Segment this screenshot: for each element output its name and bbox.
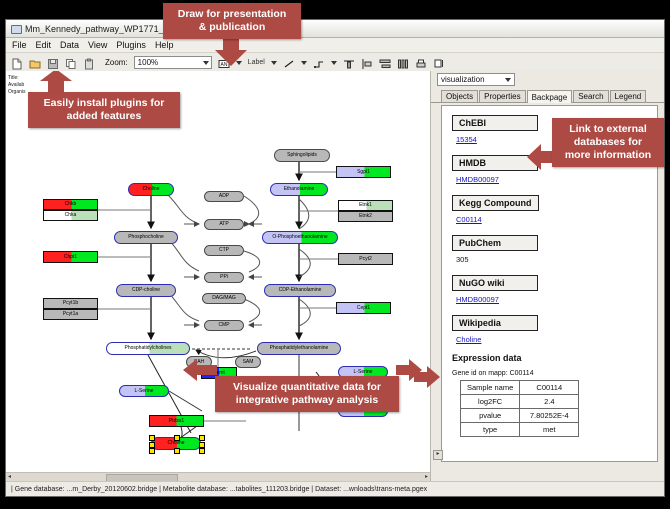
node-label: DAG/MAG (212, 296, 236, 301)
gene-node-cept1[interactable]: Cept1 (336, 302, 391, 314)
node-label: Phosphocholine (128, 235, 164, 240)
cell-key: Sample name (461, 381, 520, 395)
main-toolbar: Zoom: 100% AN Label (6, 53, 664, 73)
metabolite-node-phosphocholine[interactable]: Phosphocholine (114, 231, 178, 244)
chevron-down-icon (203, 61, 209, 65)
metabolite-node-ppi[interactable]: PPi (204, 272, 244, 283)
metabolite-node-phosphatidylethanolamine[interactable]: Phosphatidylethanolamine (257, 342, 341, 355)
cell-value: C00114 (520, 381, 579, 395)
save-icon[interactable] (47, 57, 59, 69)
metabolite-node-cdp-ethanolamine[interactable]: CDP-Ethanolamine (264, 284, 336, 297)
connector-tool-icon[interactable] (313, 57, 325, 69)
new-file-icon[interactable] (11, 57, 23, 69)
node-label: CDP-Ethanolamine (279, 288, 322, 293)
gene-node-pcyt1b[interactable]: Pcyt1b (43, 298, 98, 309)
tab-objects[interactable]: Objects (441, 90, 478, 102)
cell-key: log2FC (461, 395, 520, 409)
expression-data-title: Expression data (452, 353, 657, 363)
node-label: Etnk2 (359, 214, 372, 219)
zoom-label: Zoom: (105, 58, 128, 67)
selection-handle[interactable] (149, 442, 155, 448)
table-row: Sample name C00114 (461, 381, 579, 395)
print-icon[interactable] (415, 57, 427, 69)
selection-handle[interactable] (174, 448, 180, 454)
node-label: Chpt1 (64, 255, 77, 260)
callout-draw-text: Draw for presentation& publication (178, 8, 287, 33)
cell-value: 2.4 (520, 395, 579, 409)
metabolite-node-dag-mag[interactable]: DAG/MAG (202, 293, 246, 304)
metabolite-node-sam[interactable]: SAM (235, 356, 261, 368)
value-pubchem: 305 (456, 255, 657, 264)
scroll-left-arrow[interactable]: ◂ (8, 474, 11, 480)
cell-value: met (520, 423, 579, 437)
menu-plugins[interactable]: Plugins (116, 40, 146, 50)
node-label: CMP (218, 323, 229, 328)
menu-data[interactable]: Data (60, 40, 79, 50)
metabolite-node-ethanolamine[interactable]: Ethanolamine (270, 183, 328, 196)
node-label: Cept1 (357, 306, 370, 311)
gene-node-chpt1[interactable]: Chpt1 (43, 251, 98, 263)
link-nugo[interactable]: HMDB00097 (456, 295, 657, 304)
menu-view[interactable]: View (88, 40, 107, 50)
chevron-down-icon[interactable] (331, 61, 337, 65)
table-row: type met (461, 423, 579, 437)
metabolite-node-choline[interactable]: Choline (128, 183, 174, 196)
callout-visualize-arrow (183, 357, 217, 388)
callout-draw-arrow (212, 36, 250, 71)
node-label: O-Phosphoethanolamine (272, 235, 327, 240)
node-label: L-Serine (354, 370, 373, 375)
callout-plugins-text: Easily install plugins foradded features (44, 97, 165, 122)
node-label: Choline (168, 441, 185, 446)
metabolite-node-phosphatidylcholines[interactable]: Phosphatidylcholines (106, 342, 190, 355)
selection-handle[interactable] (199, 442, 205, 448)
pathvisio-app-icon (10, 23, 21, 34)
node-label: Choline (143, 187, 160, 192)
callout-draw: Draw for presentation& publication (163, 3, 301, 39)
node-label: Ptdss1 (169, 419, 184, 424)
visualization-value: visualization (441, 75, 485, 84)
open-folder-icon[interactable] (29, 57, 41, 69)
chevron-down-icon[interactable] (271, 61, 277, 65)
metabolite-node-cdp-choline[interactable]: CDP-choline (116, 284, 176, 297)
gene-node-pcyt2[interactable]: Pcyt2 (338, 253, 393, 265)
table-row: log2FC 2.4 (461, 395, 579, 409)
section-heading-wikipedia: Wikipedia (452, 315, 538, 331)
metabolite-node-ctp[interactable]: CTP (204, 245, 244, 256)
cell-key: type (461, 423, 520, 437)
node-label: ATP (219, 222, 228, 227)
node-label: PPi (220, 275, 228, 280)
node-label: Pcyt1b (63, 301, 78, 306)
callout-visualize-arrow-right (396, 357, 422, 388)
metabolite-node-adp[interactable]: ADP (204, 191, 244, 202)
selection-handle[interactable] (199, 448, 205, 454)
visualization-row: visualization (431, 71, 664, 88)
gene-id-label: Gene id on mapp: C00114 (452, 370, 657, 377)
selection-handle[interactable] (149, 435, 155, 441)
zoom-select[interactable]: 100% (134, 56, 212, 69)
metabolite-node-cmp[interactable]: CMP (204, 320, 244, 331)
screenshot-root: Mm_Kennedy_pathway_WP1771_45176.gpml Fil… (0, 0, 670, 509)
node-label: Chka (65, 213, 77, 218)
gene-node-etnk2[interactable]: Etnk2 (338, 211, 393, 222)
section-heading-chebi: ChEBI (452, 115, 538, 131)
menu-edit[interactable]: Edit (36, 40, 52, 50)
chevron-down-icon[interactable] (301, 61, 307, 65)
gene-node-chka[interactable]: Chka (43, 210, 98, 221)
node-label: SAM (243, 360, 254, 365)
selection-handle[interactable] (199, 435, 205, 441)
node-label: ADP (219, 194, 229, 199)
metabolite-node-l-serine[interactable]: L-Serine (119, 385, 169, 397)
selection-handle[interactable] (149, 448, 155, 454)
node-label: Sgpl1 (357, 170, 370, 175)
copy-icon[interactable] (65, 57, 77, 69)
node-label: Pcyt2 (359, 257, 372, 262)
window-titlebar: Mm_Kennedy_pathway_WP1771_45176.gpml (6, 20, 664, 38)
callout-plugins: Easily install plugins foradded features (28, 92, 180, 128)
node-label: Ethanolamine (284, 187, 315, 192)
section-heading-kegg: Kegg Compound (452, 195, 539, 211)
cell-key: pvalue (461, 409, 520, 423)
tab-backpage[interactable]: Backpage (527, 90, 573, 103)
pathway-canvas-pane[interactable]: Title: Availab Organis (6, 71, 431, 482)
node-label: Phosphatidylethanolamine (270, 346, 329, 351)
node-label: L-Serine (135, 389, 154, 394)
section-heading-hmdb: HMDB (452, 155, 538, 171)
menu-help[interactable]: Help (155, 40, 174, 50)
callout-visualize: Visualize quantitative data forintegrati… (215, 376, 399, 412)
statusbar: | Gene database: ...m_Derby_20120602.bri… (6, 481, 664, 496)
section-heading-pubchem: PubChem (452, 235, 538, 251)
node-label: Phosphatidylcholines (125, 346, 172, 351)
callout-links: Link to externaldatabases formore inform… (552, 118, 664, 167)
cell-value: 7.80252E-4 (520, 409, 579, 423)
label-tool-label[interactable]: Label (248, 59, 265, 66)
tab-search[interactable]: Search (573, 90, 608, 102)
table-row: pvalue 7.80252E-4 (461, 409, 579, 423)
link-kegg[interactable]: C00114 (456, 215, 657, 224)
line-tool-icon[interactable] (283, 57, 295, 69)
align-top-icon[interactable] (343, 57, 355, 69)
side-panel-tabs: Objects Properties Backpage Search Legen… (431, 88, 664, 103)
callout-visualize-text: Visualize quantitative data forintegrati… (233, 381, 381, 406)
node-label: Chkb (65, 202, 77, 207)
selection-handle[interactable] (174, 435, 180, 441)
expression-table: Sample name C00114 log2FC 2.4 pvalue 7.8… (460, 380, 579, 437)
pathvisio-window: Mm_Kennedy_pathway_WP1771_45176.gpml Fil… (5, 19, 665, 497)
menubar: File Edit Data View Plugins Help (6, 38, 664, 53)
link-wikipedia[interactable]: Choline (456, 335, 657, 344)
metabolite-node-sphingolipids[interactable]: Sphingolipids (274, 149, 330, 162)
menu-file[interactable]: File (12, 40, 27, 50)
callout-links-text: Link to externaldatabases formore inform… (565, 123, 651, 161)
gene-node-pcyt1a[interactable]: Pcyt1a (43, 309, 98, 320)
gene-node-chkb[interactable]: Chkb (43, 199, 98, 210)
chevron-down-icon (505, 78, 511, 82)
paste-icon[interactable] (83, 57, 95, 69)
same-width-icon[interactable] (397, 57, 409, 69)
node-label: Etnk1 (359, 203, 372, 208)
panel-scroll-right-arrow[interactable]: ▸ (433, 450, 443, 460)
tab-properties[interactable]: Properties (479, 90, 525, 102)
metabolite-node-atp[interactable]: ATP (204, 219, 244, 230)
zoom-value: 100% (138, 58, 158, 67)
node-label: Sphingolipids (287, 153, 317, 158)
align-left-icon[interactable] (361, 57, 373, 69)
section-heading-nugo: NuGO wiki (452, 275, 538, 291)
node-label: CDP-choline (132, 288, 160, 293)
distribute-icon[interactable] (379, 57, 391, 69)
gene-node-sgpl1[interactable]: Sgpl1 (336, 166, 391, 178)
scroll-right-arrow[interactable]: ▸ (425, 474, 428, 480)
tab-legend[interactable]: Legend (610, 90, 647, 102)
node-label: Pcyt1a (63, 312, 78, 317)
gene-node-ptdss1[interactable]: Ptdss1 (149, 415, 204, 427)
gene-node-etnk1[interactable]: Etnk1 (338, 200, 393, 211)
visualization-select[interactable]: visualization (437, 73, 515, 86)
node-label: CTP (219, 248, 229, 253)
metabolite-node-o-phosphoethanolamine[interactable]: O-Phosphoethanolamine (262, 231, 338, 244)
statusbar-text: | Gene database: ...m_Derby_20120602.bri… (11, 486, 427, 493)
bring-front-icon[interactable] (433, 57, 445, 69)
